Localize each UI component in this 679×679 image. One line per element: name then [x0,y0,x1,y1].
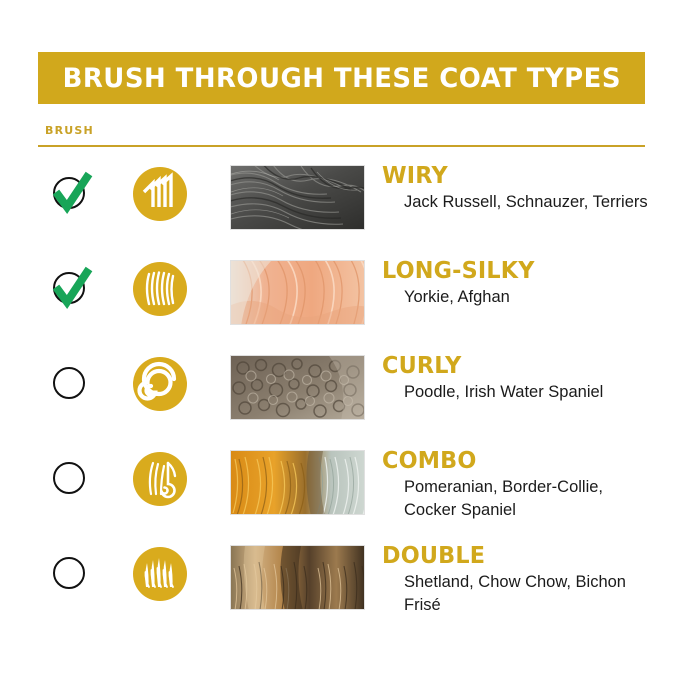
double-coat-photo [230,545,365,610]
wiry-coat-photo [230,165,365,230]
header-divider [38,145,645,147]
icon-cell-wiry [112,155,230,250]
coat-type-breeds: Jack Russell, Schnauzer, Terriers [382,189,654,214]
combo-coat-icon [133,452,187,506]
coat-type-name: COMBO [382,448,670,474]
coat-type-breeds: Shetland, Chow Chow, Bichon Frisé [382,569,654,617]
column-label-brush: BRUSH [45,124,94,137]
double-coat-icon [133,547,187,601]
coat-type-name: LONG-SILKY [382,258,670,284]
checkbox-cell-long-silky[interactable] [0,250,112,345]
empty-circle-icon [53,462,85,494]
list-item[interactable]: COMBO Pomeranian, Border-Collie, Cocker … [0,440,679,535]
text-cell-curly: CURLY Poodle, Irish Water Spaniel [382,345,679,440]
wiry-coat-icon [133,167,187,221]
list-item[interactable]: DOUBLE Shetland, Chow Chow, Bichon Frisé [0,535,679,630]
checkbox-cell-combo[interactable] [0,440,112,535]
curly-coat-photo [230,355,365,420]
coat-types-chart: BRUSH THROUGH THESE COAT TYPES BRUSH [0,0,679,679]
page-title: BRUSH THROUGH THESE COAT TYPES [62,63,620,94]
checkbox-cell-curly[interactable] [0,345,112,440]
checkbox-cell-double[interactable] [0,535,112,630]
coat-type-name: CURLY [382,353,670,379]
text-cell-double: DOUBLE Shetland, Chow Chow, Bichon Frisé [382,535,679,630]
photo-cell-long-silky [230,250,382,345]
photo-cell-combo [230,440,382,535]
long-silky-coat-icon [133,262,187,316]
coat-type-name: DOUBLE [382,543,670,569]
text-cell-combo: COMBO Pomeranian, Border-Collie, Cocker … [382,440,679,535]
check-mark-icon [50,169,94,215]
coat-type-list: WIRY Jack Russell, Schnauzer, Terriers [0,155,679,630]
checkbox-cell-wiry[interactable] [0,155,112,250]
coat-type-breeds: Poodle, Irish Water Spaniel [382,379,654,404]
header-banner: BRUSH THROUGH THESE COAT TYPES [38,52,645,104]
icon-cell-double [112,535,230,630]
photo-cell-wiry [230,155,382,250]
list-item[interactable]: WIRY Jack Russell, Schnauzer, Terriers [0,155,679,250]
combo-coat-photo [230,450,365,515]
text-cell-wiry: WIRY Jack Russell, Schnauzer, Terriers [382,155,679,250]
text-cell-long-silky: LONG-SILKY Yorkie, Afghan [382,250,679,345]
coat-type-breeds: Pomeranian, Border-Collie, Cocker Spanie… [382,474,654,522]
coat-type-name: WIRY [382,163,670,189]
empty-circle-icon [53,367,85,399]
curly-coat-icon [133,357,187,411]
icon-cell-long-silky [112,250,230,345]
icon-cell-curly [112,345,230,440]
long-silky-coat-photo [230,260,365,325]
check-mark-icon [50,264,94,310]
list-item[interactable]: CURLY Poodle, Irish Water Spaniel [0,345,679,440]
photo-cell-double [230,535,382,630]
list-item[interactable]: LONG-SILKY Yorkie, Afghan [0,250,679,345]
photo-cell-curly [230,345,382,440]
coat-type-breeds: Yorkie, Afghan [382,284,654,309]
empty-circle-icon [53,557,85,589]
icon-cell-combo [112,440,230,535]
